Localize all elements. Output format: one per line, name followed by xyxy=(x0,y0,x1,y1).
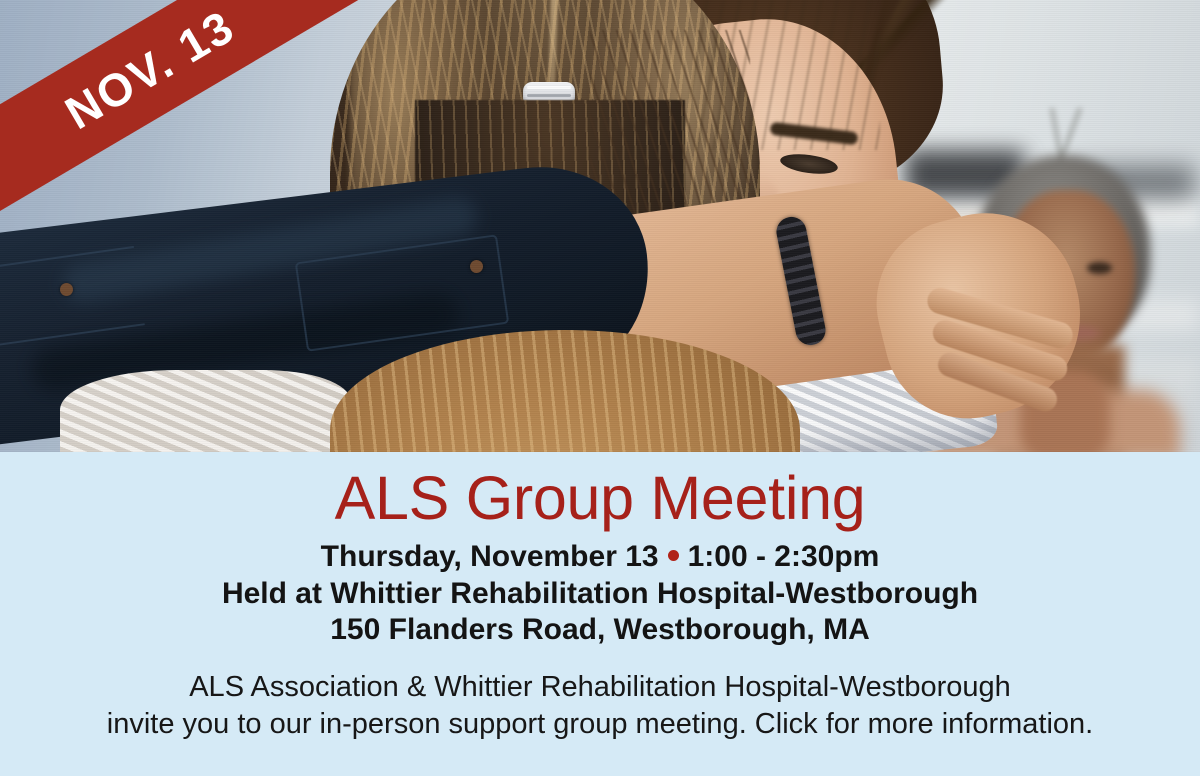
event-date-time-suffix: 1:00 - 2:30pm xyxy=(688,540,880,573)
event-info-panel: ALS Group Meeting Thursday, November 131… xyxy=(0,452,1200,776)
event-description[interactable]: ALS Association & Whittier Rehabilitatio… xyxy=(0,649,1200,743)
background-woman-eye-right xyxy=(1087,262,1112,274)
event-date-time-prefix: Thursday, November 13 xyxy=(321,540,659,573)
event-promo-card[interactable]: NOV. 13 ALS Group Meeting Thursday, Nove… xyxy=(0,0,1200,776)
shirt-button-cuff xyxy=(60,283,73,296)
event-venue-line: Held at Whittier Rehabilitation Hospital… xyxy=(0,576,1200,613)
hair-wisps-upper xyxy=(690,0,880,150)
event-address-line: 150 Flanders Road, Westborough, MA xyxy=(0,612,1200,649)
woman-knit-sweater-lower xyxy=(60,370,350,452)
event-datetime-line: Thursday, November 131:00 - 2:30pm xyxy=(0,539,1200,576)
event-details: Thursday, November 131:00 - 2:30pm Held … xyxy=(0,529,1200,649)
event-description-line-1: ALS Association & Whittier Rehabilitatio… xyxy=(0,669,1200,706)
event-photo: NOV. 13 xyxy=(0,0,1200,452)
event-description-line-2: invite you to our in-person support grou… xyxy=(0,706,1200,743)
page-title: ALS Group Meeting xyxy=(0,452,1200,529)
bullet-separator-icon xyxy=(668,550,679,561)
